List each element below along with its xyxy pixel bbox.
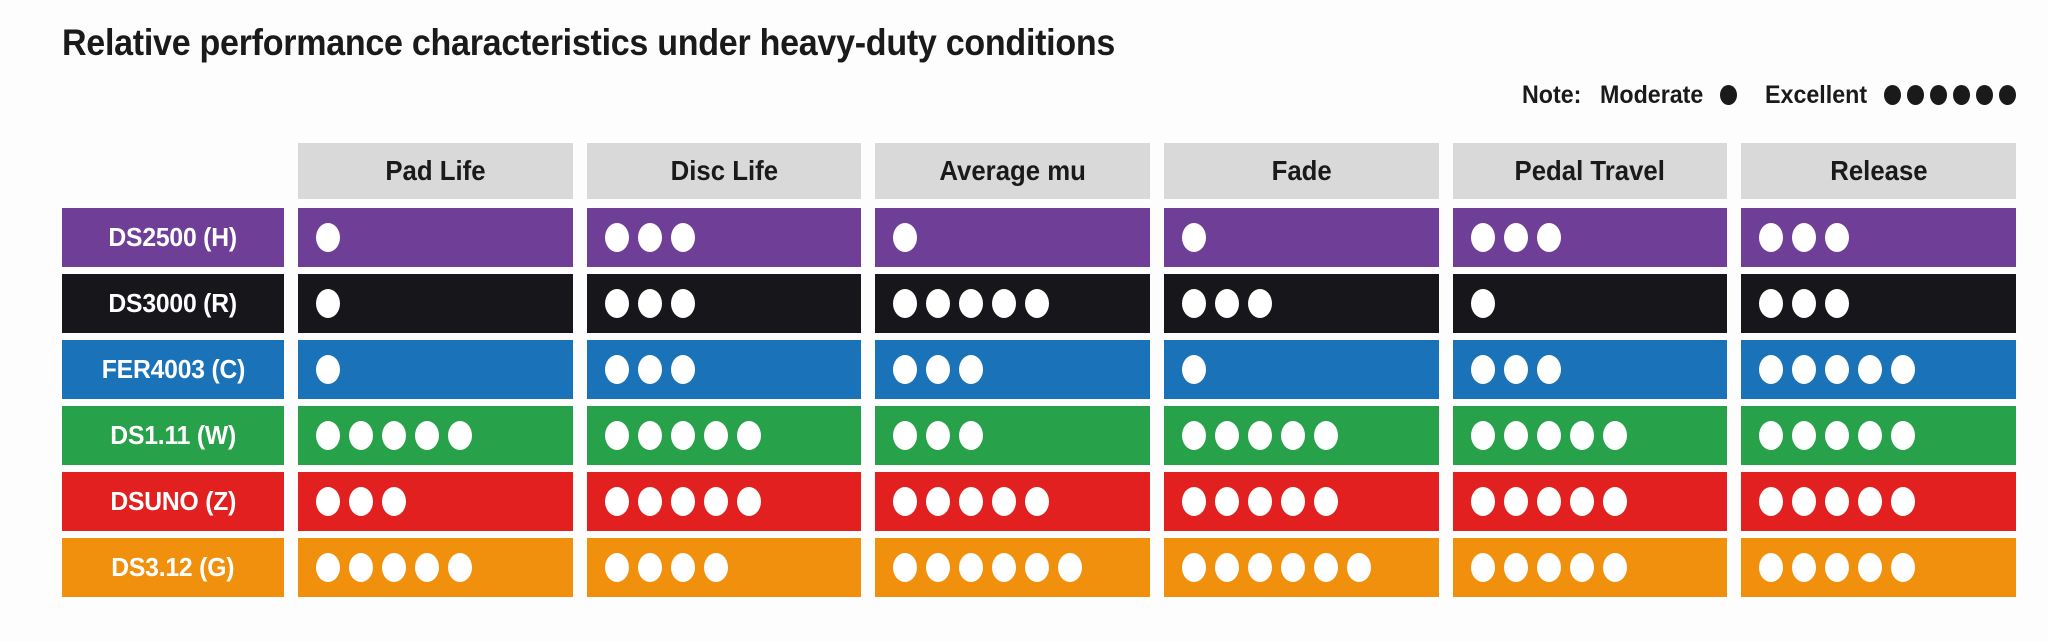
rating-cell [1453,472,1728,531]
legend-dot [1930,85,1947,105]
rating-dot [992,553,1016,582]
rating-dot [704,553,728,582]
row-label: DSUNO (Z) [62,472,284,531]
rating-cell [298,208,573,267]
legend-dot [1907,85,1924,105]
rating-dot [1537,421,1561,450]
rating-dot [349,421,373,450]
rating-cell [587,538,862,597]
rating-dot [605,223,629,252]
legend-moderate-label: Moderate [1600,81,1703,110]
rating-dot [671,487,695,516]
rating-dot [1248,553,1272,582]
rating-dot [448,553,472,582]
rating-dot [893,553,917,582]
rating-dot [1215,289,1239,318]
rating-dot [1858,421,1882,450]
rating-cell [1164,340,1439,399]
rating-dot [1281,487,1305,516]
row-label-text: DSUNO (Z) [110,486,236,517]
rating-dot [1759,421,1783,450]
rating-cell [875,406,1150,465]
rating-dot [1891,421,1915,450]
column-header: Average mu [875,143,1150,199]
rating-dot [638,289,662,318]
legend-dot [1884,85,1901,105]
table-header-row: Pad Life Disc Life Average mu Fade Pedal… [0,143,2048,199]
table-row: DS3.12 (G) [0,538,2048,597]
rating-dot [926,487,950,516]
rating-dot [671,289,695,318]
rating-cell [587,472,862,531]
row-label-text: DS1.11 (W) [110,420,236,451]
rating-dot [1825,289,1849,318]
rating-cell [587,340,862,399]
rating-dot [1182,289,1206,318]
rating-dot [1182,223,1206,252]
legend-excellent-label: Excellent [1765,81,1867,110]
rating-dot [415,421,439,450]
rating-cell [875,340,1150,399]
rating-dot [1570,553,1594,582]
rating-dot [1792,355,1816,384]
rating-dot [1537,487,1561,516]
rating-dot [1248,421,1272,450]
rating-dot [1471,487,1495,516]
rating-dot [1504,487,1528,516]
rating-cell [1164,274,1439,333]
column-header-label: Disc Life [670,155,777,187]
rating-dot [926,421,950,450]
column-header-label: Pedal Travel [1515,155,1665,187]
rating-dot [1281,421,1305,450]
rating-dot [1891,553,1915,582]
rating-cell [875,208,1150,267]
rating-dot [1759,223,1783,252]
ratings-grid: Pad Life Disc Life Average mu Fade Pedal… [0,143,2048,597]
rating-dot [1314,487,1338,516]
legend-label: Note: [1522,81,1581,110]
rating-dot [316,421,340,450]
rating-dot [959,553,983,582]
rating-dot [1759,289,1783,318]
rating-cell [1741,274,2016,333]
rating-dot [638,223,662,252]
rating-dot [638,421,662,450]
rating-dot [605,355,629,384]
rating-dot [316,223,340,252]
rating-dot [638,355,662,384]
rating-cell [1453,208,1728,267]
rating-dot [671,355,695,384]
rating-dot [1891,487,1915,516]
rating-dot [1792,487,1816,516]
rating-dot [638,553,662,582]
rating-dot [1891,355,1915,384]
rating-dot [926,289,950,318]
rating-dot [926,355,950,384]
legend-excellent-dots [1884,85,2016,105]
rating-dot [1603,553,1627,582]
rating-cell [298,274,573,333]
rating-dot [1825,355,1849,384]
rating-dot [1248,487,1272,516]
rating-dot [893,223,917,252]
rating-cell [1741,340,2016,399]
rating-dot [893,355,917,384]
rating-dot [638,487,662,516]
rating-dot [1825,223,1849,252]
rating-dot [1603,421,1627,450]
rating-dot [382,487,406,516]
column-header: Pedal Travel [1453,143,1728,199]
rating-dot [415,553,439,582]
column-header: Fade [1164,143,1439,199]
table-body: DS2500 (H)DS3000 (R)FER4003 (C)DS1.11 (W… [0,208,2048,597]
table-row: DSUNO (Z) [0,472,2048,531]
column-header-label: Pad Life [385,155,485,187]
rating-cell [587,406,862,465]
rating-dot [1025,289,1049,318]
rating-dot [1314,421,1338,450]
rating-cell [1164,406,1439,465]
rating-dot [1603,487,1627,516]
rating-cell [1164,538,1439,597]
performance-table-page: Relative performance characteristics und… [0,0,2048,642]
rating-dot [959,421,983,450]
rating-cell [298,340,573,399]
rating-dot [1182,355,1206,384]
rating-dot [1182,487,1206,516]
rating-dot [316,355,340,384]
rating-dot [448,421,472,450]
row-label-text: DS2500 (H) [109,222,238,253]
rating-dot [926,553,950,582]
rating-dot [1471,223,1495,252]
column-header: Disc Life [587,143,862,199]
rating-dot [1792,223,1816,252]
rating-dot [1504,421,1528,450]
legend: Note: Moderate Excellent [1522,80,2016,110]
rating-dot [1825,487,1849,516]
column-header: Release [1741,143,2016,199]
rating-dot [1182,421,1206,450]
rating-dot [704,487,728,516]
rating-dot [1281,553,1305,582]
rating-dot [1858,355,1882,384]
legend-moderate-dots [1720,85,1737,105]
rating-dot [671,421,695,450]
rating-cell [1741,208,2016,267]
page-title: Relative performance characteristics und… [62,22,1115,64]
rating-dot [1215,487,1239,516]
rating-cell [875,274,1150,333]
rating-dot [1858,487,1882,516]
rating-dot [1792,289,1816,318]
rating-dot [316,553,340,582]
rating-dot [1825,421,1849,450]
rating-dot [1314,553,1338,582]
table-row: DS2500 (H) [0,208,2048,267]
rating-cell [1741,538,2016,597]
row-label: DS3000 (R) [62,274,284,333]
rating-cell [1741,406,2016,465]
row-label-text: DS3000 (R) [109,288,238,319]
table-row: DS1.11 (W) [0,406,2048,465]
rating-cell [1453,340,1728,399]
rating-cell [1453,406,1728,465]
rating-dot [1504,355,1528,384]
rating-dot [671,553,695,582]
rating-dot [1215,421,1239,450]
rating-cell [1453,538,1728,597]
rating-dot [1792,553,1816,582]
rating-cell [587,208,862,267]
rating-dot [704,421,728,450]
rating-dot [737,487,761,516]
rating-dot [1504,553,1528,582]
row-label-text: FER4003 (C) [101,354,244,385]
rating-cell [298,406,573,465]
table-row: FER4003 (C) [0,340,2048,399]
rating-dot [1471,421,1495,450]
rating-dot [1570,487,1594,516]
row-label: FER4003 (C) [62,340,284,399]
rating-cell [1453,274,1728,333]
rating-cell [875,472,1150,531]
rating-dot [605,421,629,450]
rating-dot [605,487,629,516]
rating-dot [1570,421,1594,450]
rating-dot [1182,553,1206,582]
column-header-label: Average mu [939,155,1086,187]
legend-dot [1976,85,1993,105]
header-corner-spacer [62,143,284,199]
rating-dot [1025,487,1049,516]
rating-dot [737,421,761,450]
rating-dot [1347,553,1371,582]
rating-dot [1537,355,1561,384]
rating-dot [1215,553,1239,582]
rating-dot [893,421,917,450]
rating-dot [1058,553,1082,582]
column-header-label: Fade [1271,155,1331,187]
rating-dot [1471,553,1495,582]
rating-dot [605,289,629,318]
rating-dot [382,421,406,450]
rating-dot [1792,421,1816,450]
rating-dot [1471,289,1495,318]
rating-dot [992,487,1016,516]
rating-dot [1025,553,1049,582]
rating-cell [298,538,573,597]
column-header: Pad Life [298,143,573,199]
rating-dot [1759,553,1783,582]
rating-cell [587,274,862,333]
rating-dot [316,487,340,516]
legend-dot [1999,85,2016,105]
rating-dot [959,355,983,384]
rating-dot [893,289,917,318]
row-label: DS2500 (H) [62,208,284,267]
rating-dot [1537,553,1561,582]
rating-dot [671,223,695,252]
rating-dot [1759,355,1783,384]
rating-dot [1537,223,1561,252]
column-header-label: Release [1830,155,1927,187]
rating-dot [893,487,917,516]
rating-cell [298,472,573,531]
rating-dot [349,553,373,582]
rating-dot [316,289,340,318]
rating-dot [1759,487,1783,516]
rating-dot [1471,355,1495,384]
rating-dot [1248,289,1272,318]
rating-dot [382,553,406,582]
rating-dot [1825,553,1849,582]
rating-dot [992,289,1016,318]
rating-dot [959,487,983,516]
rating-dot [1858,553,1882,582]
rating-cell [1164,208,1439,267]
row-label: DS1.11 (W) [62,406,284,465]
rating-cell [1741,472,2016,531]
rating-dot [605,553,629,582]
legend-dot [1953,85,1970,105]
rating-dot [959,289,983,318]
table-row: DS3000 (R) [0,274,2048,333]
rating-dot [349,487,373,516]
rating-dot [1504,223,1528,252]
rating-cell [875,538,1150,597]
legend-dot [1720,85,1737,105]
rating-cell [1164,472,1439,531]
row-label: DS3.12 (G) [62,538,284,597]
row-label-text: DS3.12 (G) [111,552,234,583]
